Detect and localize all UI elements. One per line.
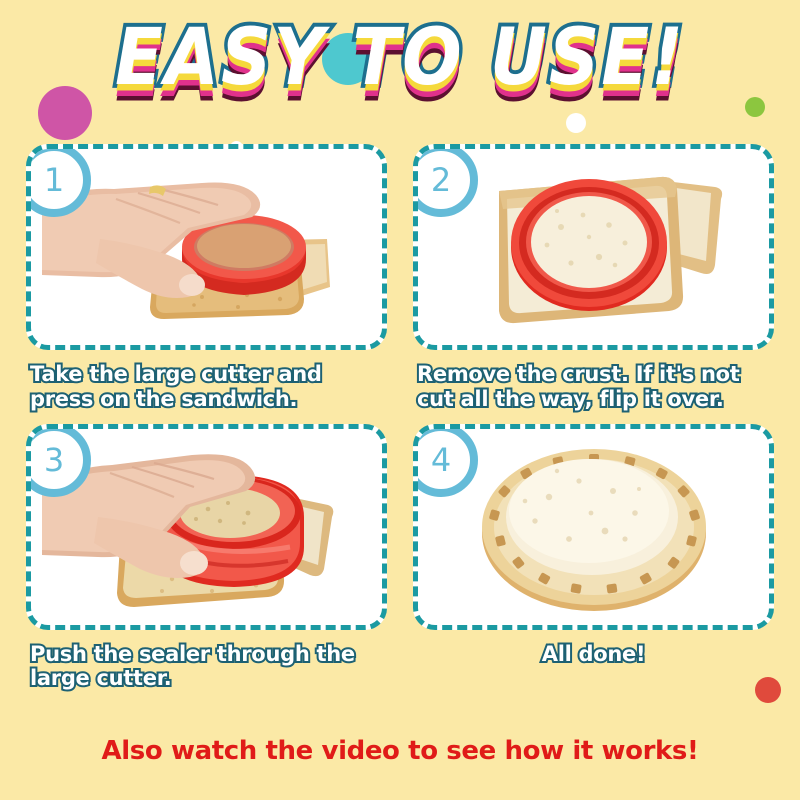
hand-pushing-sealer-illustration bbox=[42, 427, 372, 627]
step-4-number: 4 bbox=[431, 444, 451, 476]
step-3-image-card: 3 bbox=[26, 424, 387, 630]
step-4-caption: All done! bbox=[413, 642, 774, 667]
step-2-image-card: 2 bbox=[413, 144, 774, 350]
steps-grid: 1 Take the large cutter and press on the… bbox=[0, 144, 800, 691]
cutter-on-bread-illustration bbox=[429, 147, 759, 347]
title-container: EASY TO USE! bbox=[0, 22, 800, 92]
step-card-2: 2 Remove the crust. If it's not cut all … bbox=[413, 144, 774, 412]
white-dot-decoration bbox=[566, 113, 586, 133]
step-4-image-card: 4 bbox=[413, 424, 774, 630]
step-1-image-card: 1 bbox=[26, 144, 387, 350]
magenta-dot-decoration bbox=[38, 86, 92, 140]
footer-note: Also watch the video to see how it works… bbox=[0, 736, 800, 766]
step-3-caption: Push the sealer through the large cutter… bbox=[26, 642, 387, 692]
green-dot-decoration bbox=[745, 97, 765, 117]
step-card-1: 1 Take the large cutter and press on the… bbox=[26, 144, 387, 412]
infographic-poster: EASY TO USE! bbox=[0, 0, 800, 800]
step-card-4: 4 All done! bbox=[413, 424, 774, 692]
finished-sealed-sandwich-illustration bbox=[429, 427, 759, 627]
hand-pressing-cutter-illustration bbox=[42, 147, 372, 347]
step-1-number: 1 bbox=[44, 164, 64, 196]
step-2-number: 2 bbox=[431, 164, 451, 196]
page-title: EASY TO USE! bbox=[115, 18, 685, 96]
step-2-caption: Remove the crust. If it's not cut all th… bbox=[413, 362, 774, 412]
step-1-caption: Take the large cutter and press on the s… bbox=[26, 362, 387, 412]
step-3-number: 3 bbox=[44, 444, 64, 476]
step-card-3: 3 Push the sealer through the large cutt… bbox=[26, 424, 387, 692]
